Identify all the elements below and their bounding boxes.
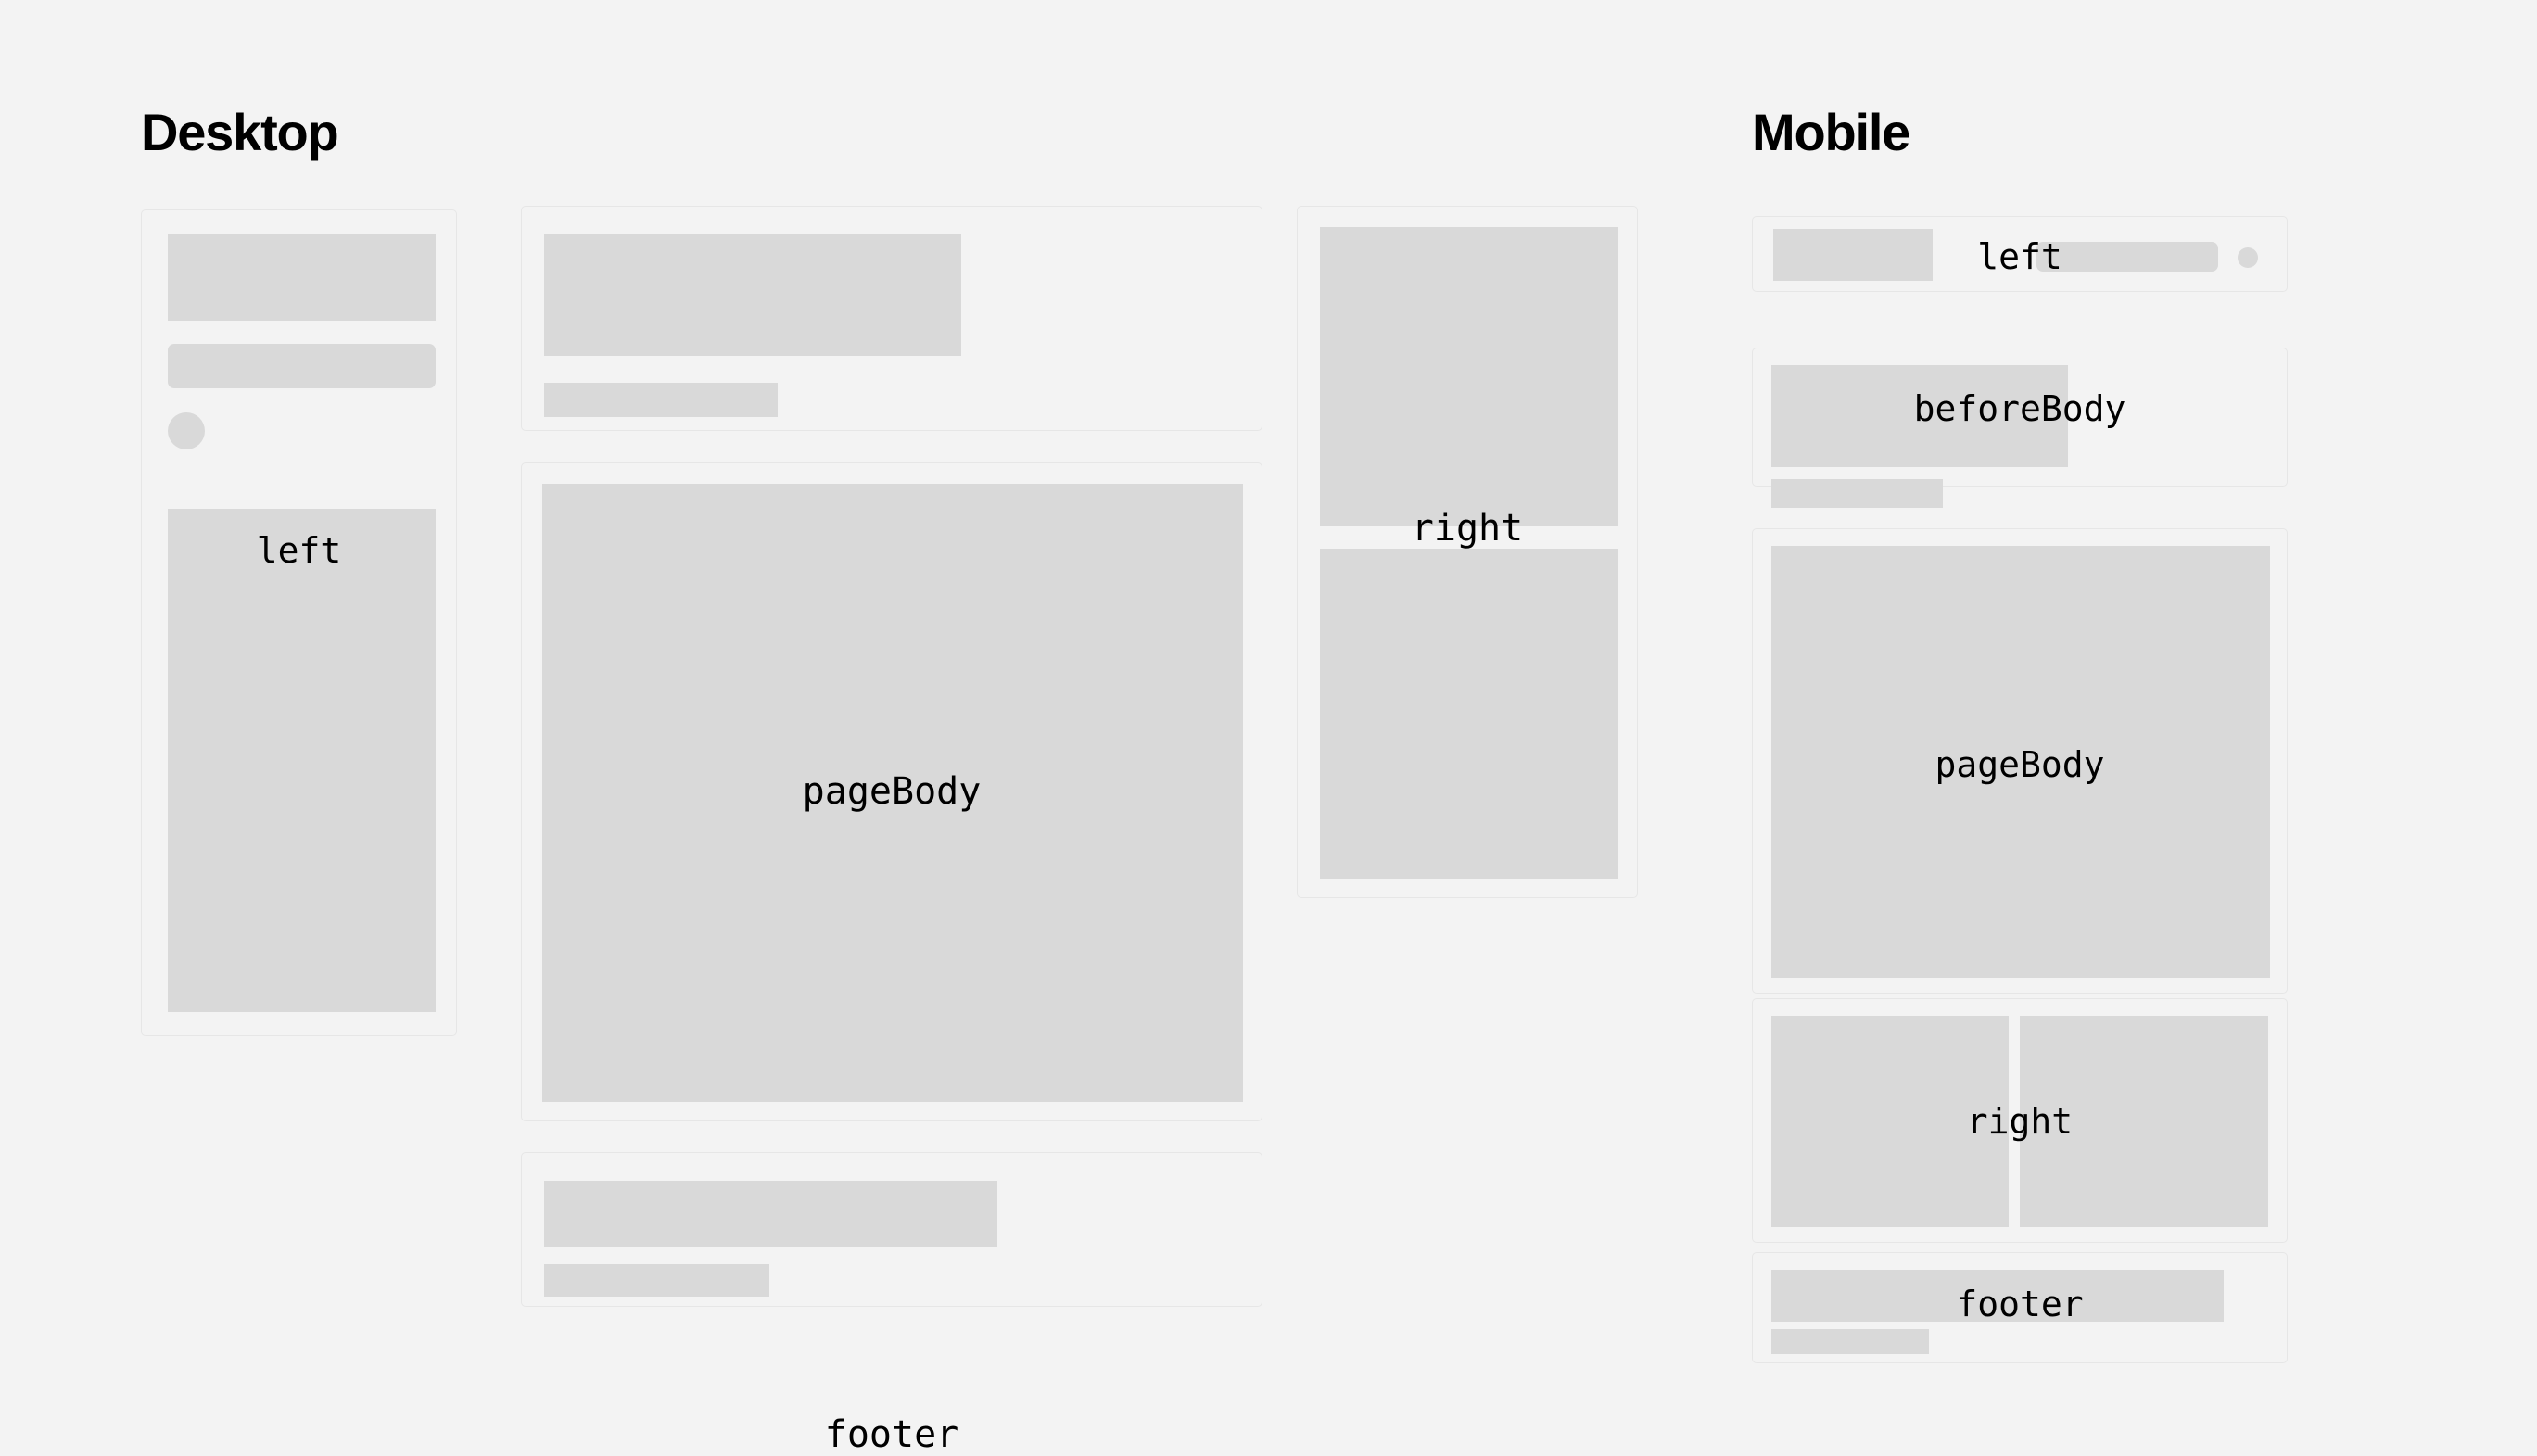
desktop-beforebody-breadcrumb-bar [544, 383, 778, 417]
mobile-beforebody-banner-block [1771, 365, 2068, 467]
mobile-footer-primary-bar [1771, 1270, 2224, 1322]
desktop-footer-secondary-bar [544, 1264, 769, 1297]
mobile-pagebody-content-block [1771, 546, 2270, 978]
mobile-left-nav-avatar-dot [2238, 247, 2258, 268]
desktop-right-aside-bottom-block [1320, 549, 1618, 879]
mobile-left-nav-header-block [1773, 229, 1933, 281]
desktop-pagebody-region-panel[interactable]: pageBody [521, 462, 1262, 1121]
desktop-beforebody-banner-block [544, 234, 961, 356]
desktop-left-nav-body-block [168, 509, 436, 1012]
mobile-right-region-panel[interactable]: right [1752, 998, 2288, 1243]
desktop-footer-region-label: footer [522, 1416, 1262, 1453]
mobile-footer-secondary-bar [1771, 1329, 1929, 1354]
desktop-pagebody-content-block [542, 484, 1243, 1102]
mobile-beforebody-breadcrumb-bar [1771, 479, 1943, 508]
mobile-left-nav-search-block [2036, 242, 2218, 272]
desktop-right-region-panel[interactable]: right [1297, 206, 1638, 898]
desktop-left-nav-search-block [168, 344, 436, 388]
mobile-footer-region-panel[interactable]: footer [1752, 1252, 2288, 1363]
desktop-left-nav-avatar-dot [168, 412, 205, 449]
desktop-beforebody-region-panel[interactable]: beforeBody [521, 206, 1262, 431]
mobile-beforebody-region-panel[interactable]: beforeBody [1752, 348, 2288, 487]
mobile-left-region-panel[interactable]: left [1752, 216, 2288, 292]
page-title-mobile: Mobile [1752, 107, 1909, 158]
mobile-pagebody-region-panel[interactable]: pageBody [1752, 528, 2288, 994]
desktop-right-aside-top-block [1320, 227, 1618, 526]
mobile-right-aside-left-block [1771, 1016, 2009, 1227]
desktop-left-nav-header-block [168, 234, 436, 321]
desktop-left-region-panel[interactable]: left [141, 209, 457, 1036]
page-title-desktop: Desktop [141, 107, 338, 158]
desktop-footer-primary-bar [544, 1181, 997, 1247]
mobile-right-aside-right-block [2020, 1016, 2268, 1227]
desktop-footer-region-panel[interactable]: footer [521, 1152, 1262, 1307]
